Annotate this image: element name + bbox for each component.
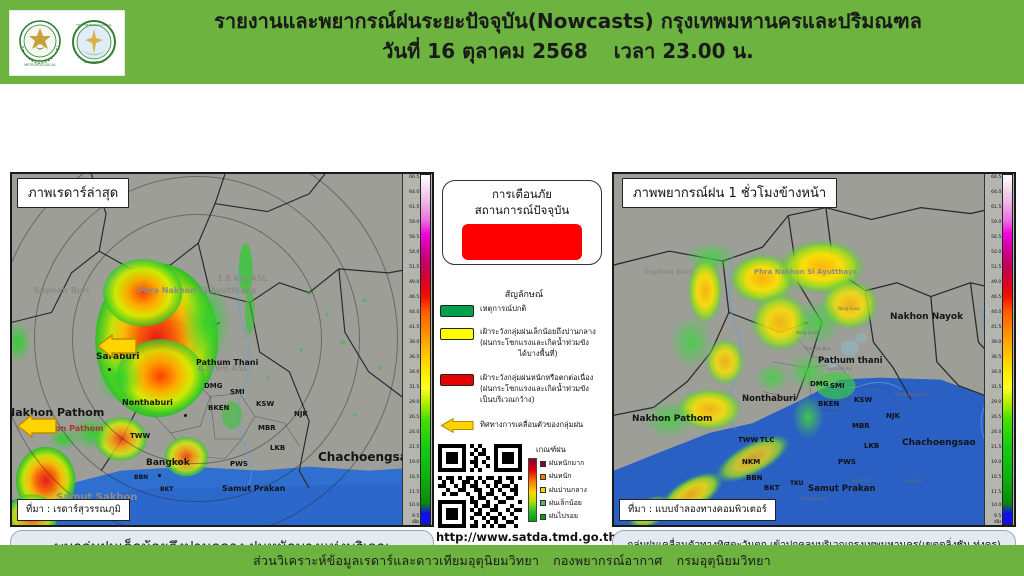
- alert-title-line-2: สถานการณ์ปัจจุบัน: [443, 203, 601, 219]
- rain-level-heavy: ฝนหนัก: [540, 471, 587, 482]
- forecast-scale-ticks: 66.5 64.0 61.5 59.0 56.5 54.0 51.5 49.0 …: [985, 174, 1002, 525]
- legend-item-watch-heavy: เฝ้าระวังกลุ่มฝนหนักหรือตกต่อเนื่อง (ฝนก…: [440, 373, 612, 406]
- legend-red-line-3: เป็นบริเวณกว้าง): [480, 395, 593, 406]
- svg-text:DEPARTMENT: DEPARTMENT: [84, 60, 104, 64]
- footer-part-3: กรมอุตุนิยมวิทยา: [677, 553, 771, 568]
- radar-map-canvas[interactable]: 1.8 km ASL 0.9 km ASL Suphan Buri Phra N…: [12, 174, 432, 525]
- title-line-2: วันที่ 16 ตุลาคม 2568เวลา 23.00 น.: [128, 38, 1008, 65]
- district-code-bken: BKEN: [208, 404, 229, 412]
- report-date: วันที่ 16 ตุลาคม 2568: [382, 39, 588, 63]
- f-district-code-tww: TWW: [738, 436, 758, 444]
- rain-level-light: ฝนเล็กน้อย: [540, 498, 587, 509]
- tmd-emblem-left-icon: METEOROLOGICAL: [15, 16, 65, 70]
- forecast-map-panel[interactable]: Suphan Buri Phra Nakhon Si Ayutthaya Nak…: [612, 172, 1016, 527]
- f-district-code-nkm: NKM: [742, 458, 760, 466]
- qr-code[interactable]: [438, 444, 522, 528]
- radar-map-panel[interactable]: 1.8 km ASL 0.9 km ASL Suphan Buri Phra N…: [10, 172, 434, 527]
- district-code-bbn: BBN: [134, 474, 148, 481]
- page-header: METEOROLOGICAL THAI METEOROLOGICAL DEPAR…: [0, 0, 1024, 84]
- forecast-dbz-scale: 66.5 64.0 61.5 59.0 56.5 54.0 51.5 49.0 …: [984, 174, 1014, 525]
- rain-level-moderate: ฝนปานกลาง: [540, 485, 587, 496]
- legend-item-normal: เหตุการณ์ปกติ: [440, 304, 612, 317]
- radar-scale-unit: dBz: [412, 520, 419, 524]
- rain-chip-light: [540, 500, 546, 506]
- svg-text:METEOROLOGICAL: METEOROLOGICAL: [24, 63, 56, 67]
- f-district-code-dmg: DMG: [810, 380, 829, 388]
- motion-arrow-icon-1: [96, 334, 138, 362]
- f-district-code-bkt: BKT: [764, 484, 780, 492]
- legend-yellow-line-2: (ฝนกระโชกแรงและเกิดน้ำท่วมขัง: [480, 338, 596, 349]
- f-district-code-mbr: MBR: [852, 422, 870, 430]
- title-line-1: รายงานและพยากรณ์ฝนระยะปัจจุบัน(Nowcasts)…: [128, 8, 1008, 35]
- content-area: 1.8 km ASL 0.9 km ASL Suphan Buri Phra N…: [0, 84, 1024, 545]
- district-code-ksw: KSW: [256, 400, 274, 408]
- district-code-bkt: BKT: [160, 486, 173, 493]
- f-district-code-smi: SMI: [830, 382, 845, 390]
- legend-arrow-icon: [440, 418, 474, 434]
- motion-arrow-icon-2: [16, 414, 58, 442]
- legend-yellow-line-1: เฝ้าระวังกลุ่มฝนเล็กน้อยถึงปานกลาง: [480, 327, 596, 338]
- district-code-njk: NJK: [294, 410, 308, 418]
- rain-chip-moderate: [540, 487, 546, 493]
- rain-intensity-legend: เกณฑ์ฝน ฝนหนักมาก ฝนหนัก ฝนปานกลาง: [528, 444, 612, 522]
- radar-scale-ticks: 66.5 64.0 61.5 59.0 56.5 54.0 51.5 49.0 …: [403, 174, 420, 525]
- legend-normal-label: เหตุการณ์ปกติ: [480, 304, 526, 313]
- legend-arrow-label: ทิศทางการเคลื่อนตัวของกลุ่มฝน: [480, 420, 583, 429]
- footer-part-2: กองพยากรณ์อากาศ: [553, 553, 663, 568]
- radar-dbz-scale: 66.5 64.0 61.5 59.0 56.5 54.0 51.5 49.0 …: [402, 174, 432, 525]
- legend-item-motion-direction: ทิศทางการเคลื่อนตัวของกลุ่มฝน: [440, 418, 612, 434]
- legend-heading: สัญลักษณ์: [436, 287, 612, 301]
- svg-text:THAI METEOROLOGICAL: THAI METEOROLOGICAL: [75, 23, 112, 27]
- district-code-smi: SMI: [230, 388, 245, 396]
- alert-status-box: การเตือนภัย สถานการณ์ปัจจุบัน: [442, 180, 602, 265]
- f-district-code-pws: PWS: [838, 458, 856, 466]
- website-url[interactable]: http://www.satda.tmd.go.th/: [436, 530, 588, 544]
- forecast-panel-title: ภาพพยากรณ์ฝน 1 ชั่วโมงข้างหน้า: [622, 178, 837, 208]
- range-ring-48km: [10, 172, 398, 527]
- rain-legend-gradient: [528, 458, 537, 522]
- rain-level-trace: ฝนไปรอย: [540, 511, 587, 522]
- forecast-panel-source: ที่มา : แบบจำลองทางคอมพิวเตอร์: [619, 499, 776, 521]
- district-code-mbr: MBR: [258, 424, 276, 432]
- legend-red-swatch: [440, 374, 474, 386]
- page-footer: ส่วนวิเคราะห์ข้อมูลเรดาร์และดาวเทียมอุตุ…: [0, 545, 1024, 576]
- district-code-dmg: DMG: [204, 382, 223, 390]
- legend-yellow-line-3: ได้บางพื้นที่): [480, 349, 596, 360]
- forecast-scale-unit: dBz: [994, 520, 1001, 524]
- forecast-map-canvas[interactable]: Suphan Buri Phra Nakhon Si Ayutthaya Nak…: [614, 174, 1014, 525]
- f-district-code-tku: TKU: [790, 480, 804, 487]
- footer-part-1: ส่วนวิเคราะห์ข้อมูลเรดาร์และดาวเทียมอุตุ…: [253, 553, 539, 568]
- footer-credits: ส่วนวิเคราะห์ข้อมูลเรดาร์และดาวเทียมอุตุ…: [253, 551, 771, 571]
- forecast-scale-gradient: [1002, 174, 1013, 525]
- district-code-tww: TWW: [130, 432, 150, 440]
- center-legend-column: การเตือนภัย สถานการณ์ปัจจุบัน สัญลักษณ์ …: [436, 172, 612, 576]
- rain-chip-very-heavy: [540, 461, 546, 467]
- legend-yellow-swatch: [440, 328, 474, 340]
- legend-green-swatch: [440, 305, 474, 317]
- radar-panel-source: ที่มา : เรดาร์สุวรรณภูมิ: [17, 499, 130, 521]
- f-district-code-lkb: LKB: [864, 442, 879, 450]
- alert-title-line-1: การเตือนภัย: [443, 187, 601, 203]
- rain-level-very-heavy: ฝนหนักมาก: [540, 458, 587, 469]
- logo-container: METEOROLOGICAL THAI METEOROLOGICAL DEPAR…: [9, 10, 125, 76]
- f-district-code-tlc: TLC: [760, 436, 774, 444]
- f-district-code-njk: NJK: [886, 412, 900, 420]
- legend-red-line-2: (ฝนกระโชกแรงและเกิดน้ำท่วมขัง: [480, 384, 593, 395]
- district-code-pws: PWS: [230, 460, 248, 468]
- legend-item-watch-light: เฝ้าระวังกลุ่มฝนเล็กน้อยถึงปานกลาง (ฝนกร…: [440, 327, 612, 360]
- rain-legend-title: เกณฑ์ฝน: [536, 444, 612, 456]
- radar-scale-gradient: [420, 174, 431, 525]
- tmd-emblem-right-icon: THAI METEOROLOGICAL DEPARTMENT: [69, 16, 119, 70]
- district-code-lkb: LKB: [270, 444, 285, 452]
- f-district-code-bbn: BBN: [746, 474, 763, 482]
- rain-chip-heavy: [540, 474, 546, 480]
- page-title: รายงานและพยากรณ์ฝนระยะปัจจุบัน(Nowcasts)…: [128, 8, 1008, 65]
- f-district-code-ksw: KSW: [854, 396, 872, 404]
- legend-red-line-1: เฝ้าระวังกลุ่มฝนหนักหรือตกต่อเนื่อง: [480, 373, 593, 384]
- f-district-code-bken: BKEN: [818, 400, 839, 408]
- report-time: เวลา 23.00 น.: [614, 39, 754, 63]
- rain-chip-trace: [540, 514, 546, 520]
- red-alert-swatch: [462, 224, 582, 260]
- radar-panel-title: ภาพเรดาร์ล่าสุด: [17, 178, 129, 208]
